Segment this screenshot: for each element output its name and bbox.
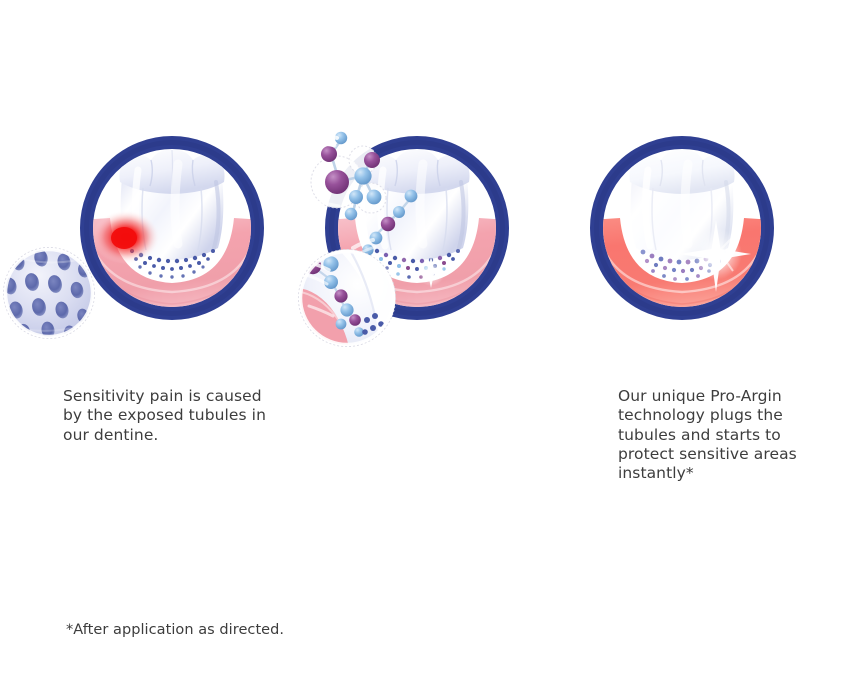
infographic-stage: Sensitivity pain is caused by the expose… [0,0,845,685]
exposed-tubules-illustration [0,120,300,375]
panel-proargin-plugs: Our unique Pro-Argin technology plugs th… [295,0,585,685]
protective-barrier-illustration [575,120,845,375]
footnote: *After application as directed. [66,621,284,640]
panel-protective-barrier: Over time, it builds a protective barrie… [575,0,845,685]
plugging-magnifier-inset [299,250,398,349]
tubules-magnifier-inset [2,248,96,342]
panel-sensitivity-cause: Sensitivity pain is caused by the expose… [0,0,300,685]
panel-1-caption: Sensitivity pain is caused by the expose… [63,387,278,445]
pro-argin-plugging-illustration [295,120,595,375]
